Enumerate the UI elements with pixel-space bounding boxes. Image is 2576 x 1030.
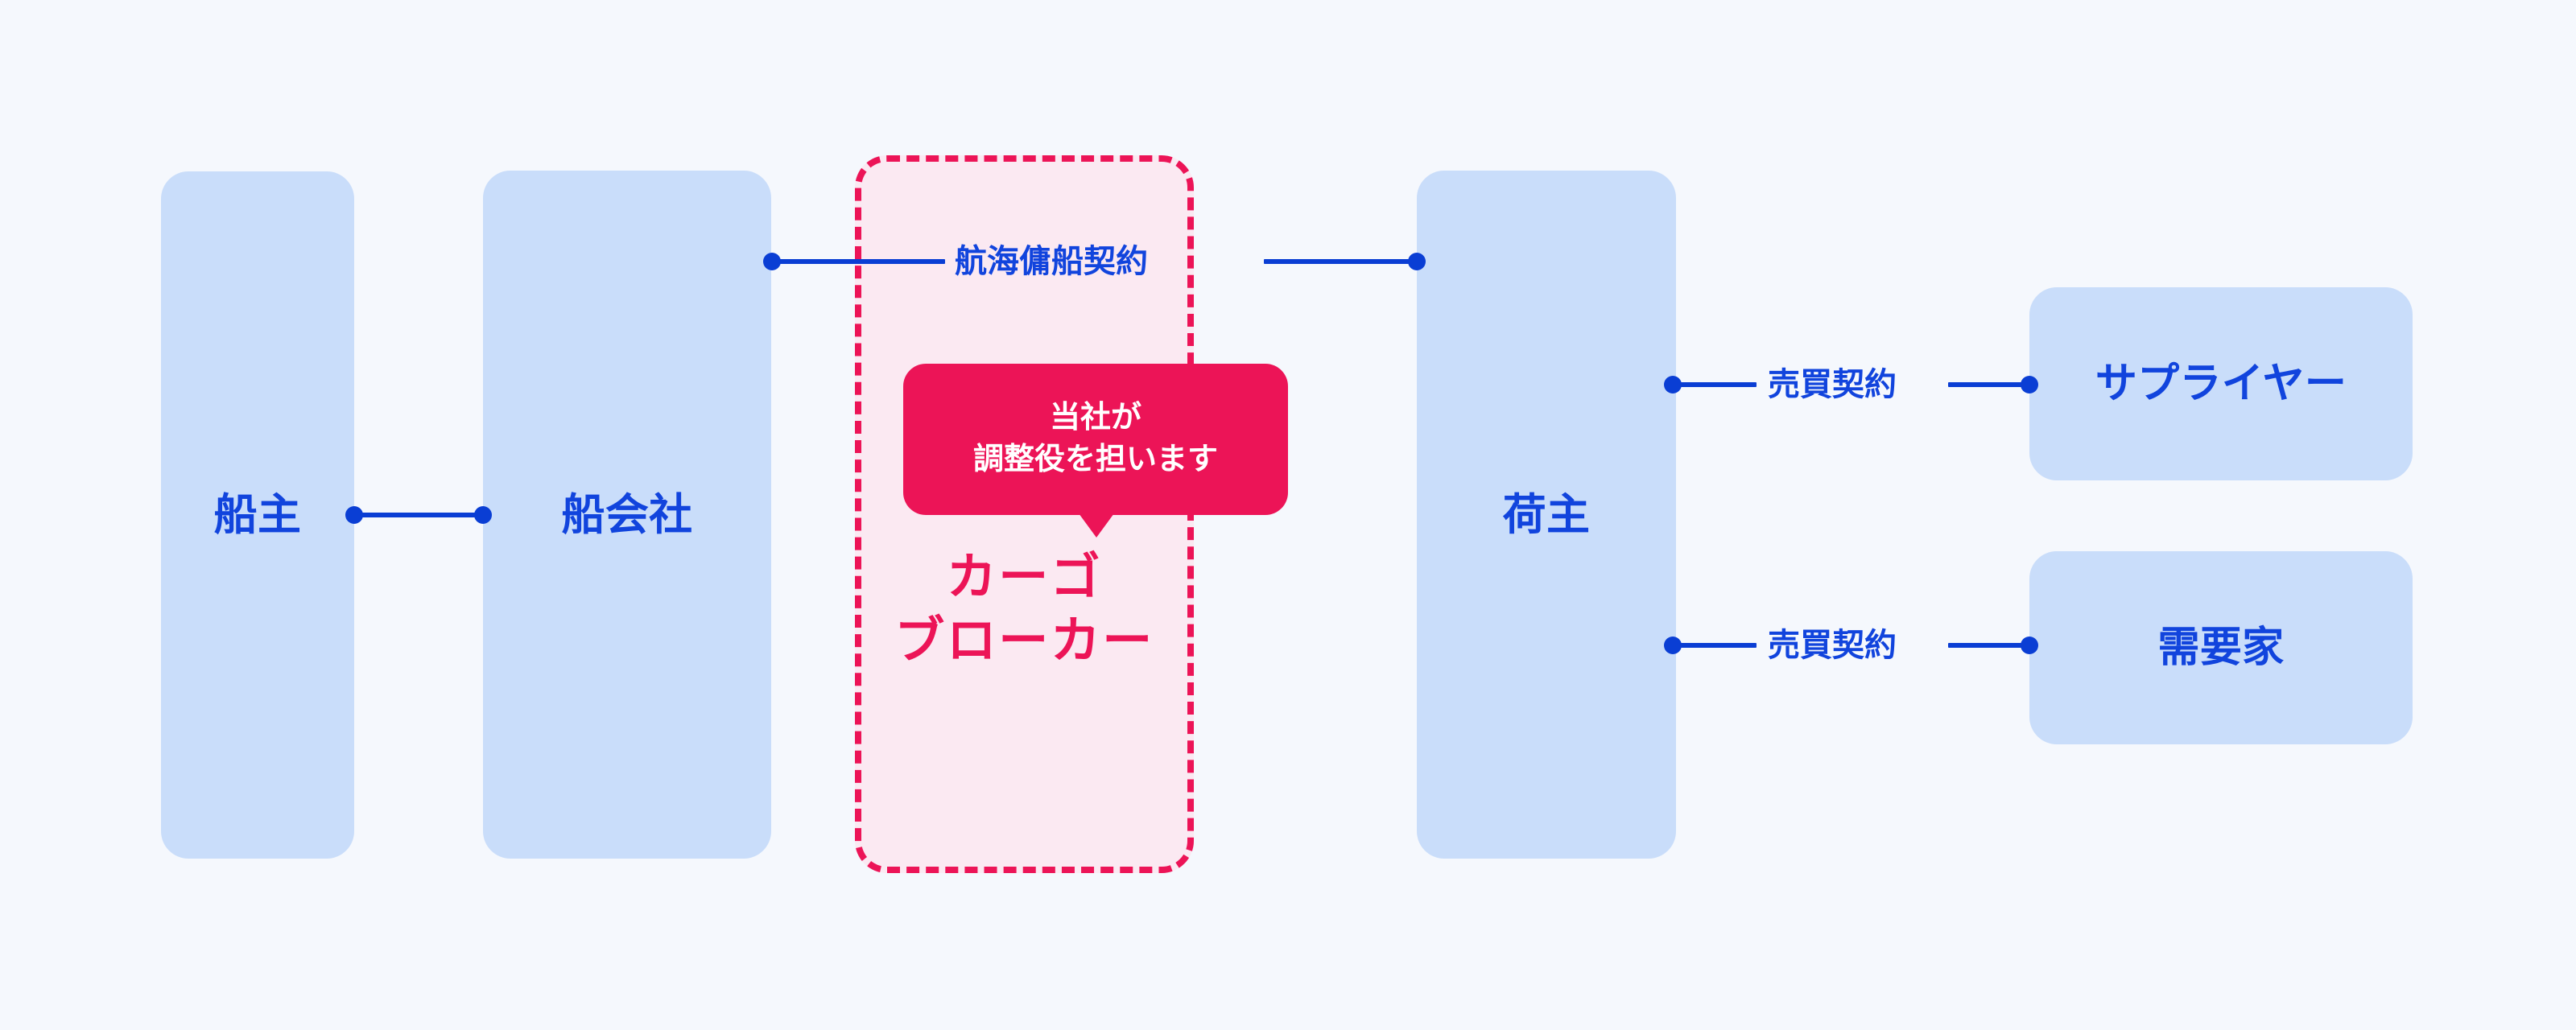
edge-consumer-sales-dot-left [1664, 637, 1682, 654]
node-shipcompany-label: 船会社 [562, 493, 693, 537]
broker-bubble-line-2: 調整役を担います [973, 444, 1218, 476]
edge-charter-dot-right [1408, 253, 1426, 270]
edge-consumer-sales-line-right [1948, 643, 2029, 648]
edge-charter-dot-left [763, 253, 781, 270]
broker-title: カーゴ ブローカー [855, 546, 1194, 674]
node-shipowner[interactable]: 船主 [161, 171, 354, 859]
edge-supplier-sales-dot-left [1664, 376, 1682, 393]
node-shipowner-label: 船主 [214, 493, 302, 537]
edge-shipowner-shipcompany-line [354, 513, 483, 517]
edge-shipowner-shipcompany-dot-right [474, 506, 492, 524]
broker-bubble-line-1: 当社が [1050, 402, 1141, 435]
edge-supplier-sales-label: 売買契約 [1768, 369, 1897, 401]
node-shipper[interactable]: 荷主 [1417, 171, 1676, 859]
edge-supplier-sales-line-right [1948, 382, 2029, 387]
node-shipcompany[interactable]: 船会社 [483, 171, 771, 859]
edge-charter-line-left [772, 259, 945, 264]
edge-consumer-sales-dot-right [2021, 637, 2038, 654]
node-supplier[interactable]: サプライヤー [2029, 287, 2413, 480]
broker-title-line-1: カーゴ [855, 546, 1194, 609]
broker-callout-bubble: 当社が 調整役を担います [903, 364, 1288, 515]
edge-supplier-sales-dot-right [2021, 376, 2038, 393]
edge-shipowner-shipcompany-dot-left [345, 506, 363, 524]
diagram-canvas: 船主 船会社 荷主 サプライヤー 需要家 当社が 調整役を担います カーゴ ブロ… [0, 0, 2576, 1030]
edge-charter-label: 航海傭船契約 [955, 245, 1148, 278]
node-consumer-label: 需要家 [2158, 627, 2285, 669]
edge-supplier-sales-line-left [1676, 382, 1757, 387]
node-consumer[interactable]: 需要家 [2029, 551, 2413, 744]
edge-consumer-sales-line-left [1676, 643, 1757, 648]
node-supplier-label: サプライヤー [2095, 363, 2347, 405]
edge-charter-line-right [1264, 259, 1417, 264]
edge-consumer-sales-label: 売買契約 [1768, 629, 1897, 661]
node-shipper-label: 荷主 [1503, 493, 1591, 537]
broker-title-line-2: ブローカー [855, 609, 1194, 673]
bubble-tail-icon [1079, 513, 1114, 538]
